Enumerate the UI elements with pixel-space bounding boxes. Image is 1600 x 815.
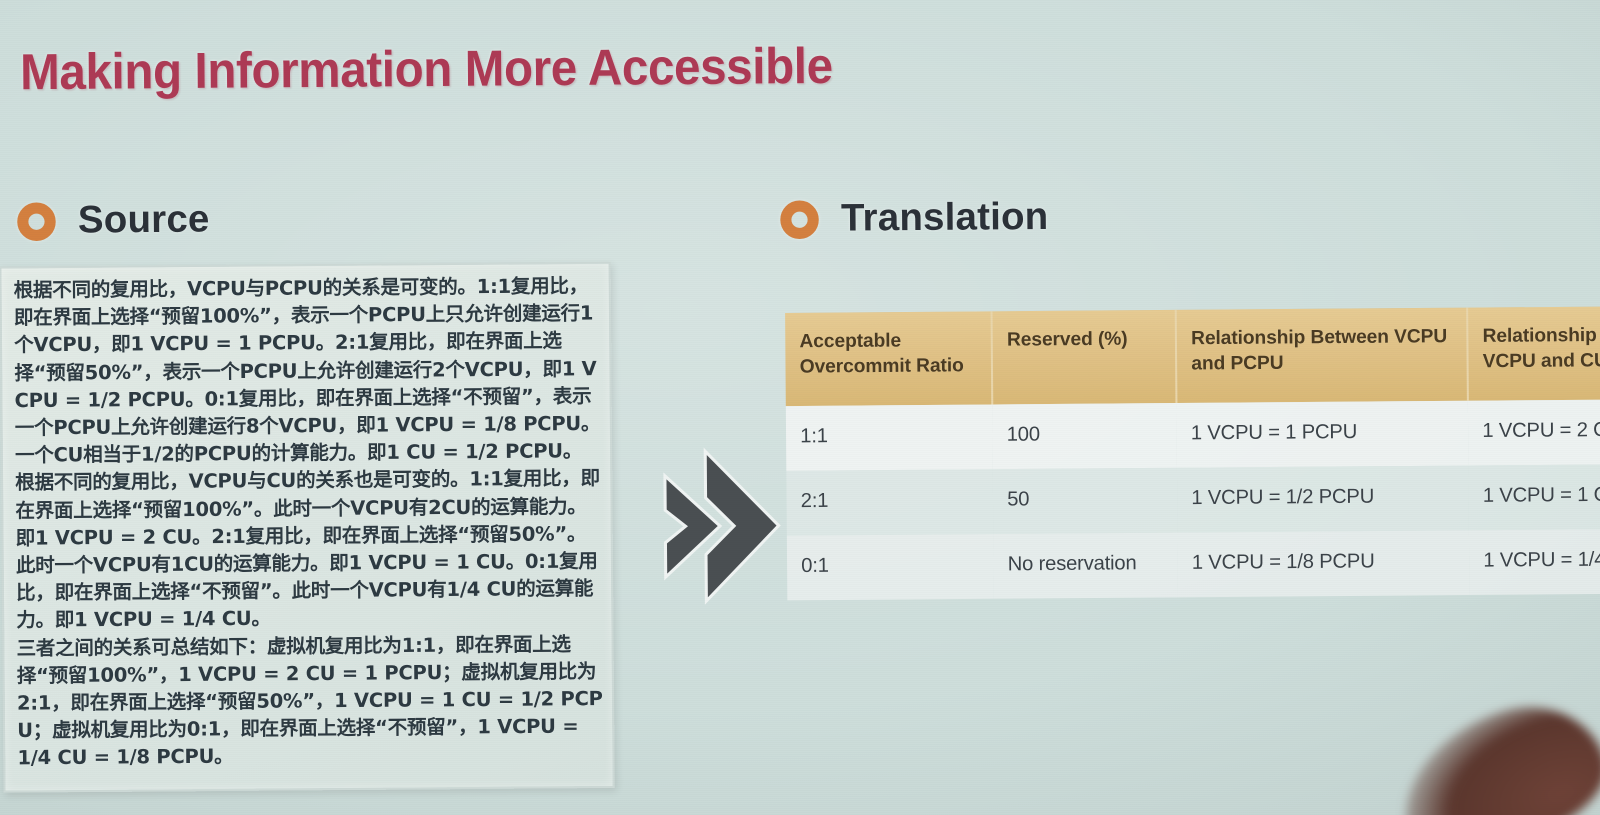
source-section-heading: Source [17, 198, 210, 243]
table-row: 1:1 100 1 VCPU = 1 PCPU 1 VCPU = 2 CUs [786, 399, 1600, 471]
translation-heading-label: Translation [841, 196, 1049, 241]
column-header-reserved-percent: Reserved (%) [992, 310, 1177, 405]
cell-vcpu-cu: 1 VCPU = 1/4 CU [1469, 528, 1600, 595]
column-header-relationship-vcpu-cu: Relationship Between VCPU and CU [1467, 306, 1600, 401]
double-chevron-right-icon [644, 432, 787, 615]
ring-bullet-icon [17, 202, 56, 241]
translation-section-heading: Translation [780, 196, 1048, 242]
cell-vcpu-pcpu: 1 VCPU = 1/2 PCPU [1177, 466, 1469, 533]
cell-ratio: 2:1 [786, 469, 993, 535]
table-row: 0:1 No reservation 1 VCPU = 1/8 PCPU 1 V… [787, 528, 1600, 600]
cell-ratio: 1:1 [786, 404, 993, 470]
cell-ratio: 0:1 [787, 534, 994, 600]
table-row: 2:1 50 1 VCPU = 1/2 PCPU 1 VCPU = 1 CU [786, 464, 1600, 536]
cell-vcpu-pcpu: 1 VCPU = 1 PCPU [1176, 401, 1468, 468]
cell-reserved: 100 [992, 403, 1177, 469]
presentation-slide: Making Information More Accessible Sourc… [0, 0, 1600, 815]
column-header-relationship-vcpu-pcpu: Relationship Between VCPU and PCPU [1176, 308, 1468, 403]
table-header-row: Acceptable Overcommit Ratio Reserved (%)… [785, 306, 1600, 406]
source-heading-label: Source [78, 198, 210, 243]
ring-bullet-icon [780, 200, 819, 239]
cell-reserved: No reservation [993, 533, 1178, 599]
translation-table: Acceptable Overcommit Ratio Reserved (%)… [785, 306, 1600, 601]
cell-reserved: 50 [993, 468, 1178, 534]
translation-table-wrapper: Acceptable Overcommit Ratio Reserved (%)… [785, 307, 1587, 601]
cell-vcpu-pcpu: 1 VCPU = 1/8 PCPU [1177, 530, 1469, 597]
source-text-box: 根据不同的复用比，VCPU与PCPU的关系是可变的。1:1复用比，即在界面上选择… [0, 262, 615, 793]
column-header-acceptable-overcommit-ratio: Acceptable Overcommit Ratio [785, 311, 992, 406]
page-title: Making Information More Accessible [20, 39, 833, 99]
cell-vcpu-cu: 1 VCPU = 2 CUs [1468, 399, 1600, 466]
cell-vcpu-cu: 1 VCPU = 1 CU [1468, 464, 1600, 531]
source-body-text: 根据不同的复用比，VCPU与PCPU的关系是可变的。1:1复用比，即在界面上选择… [14, 272, 605, 772]
